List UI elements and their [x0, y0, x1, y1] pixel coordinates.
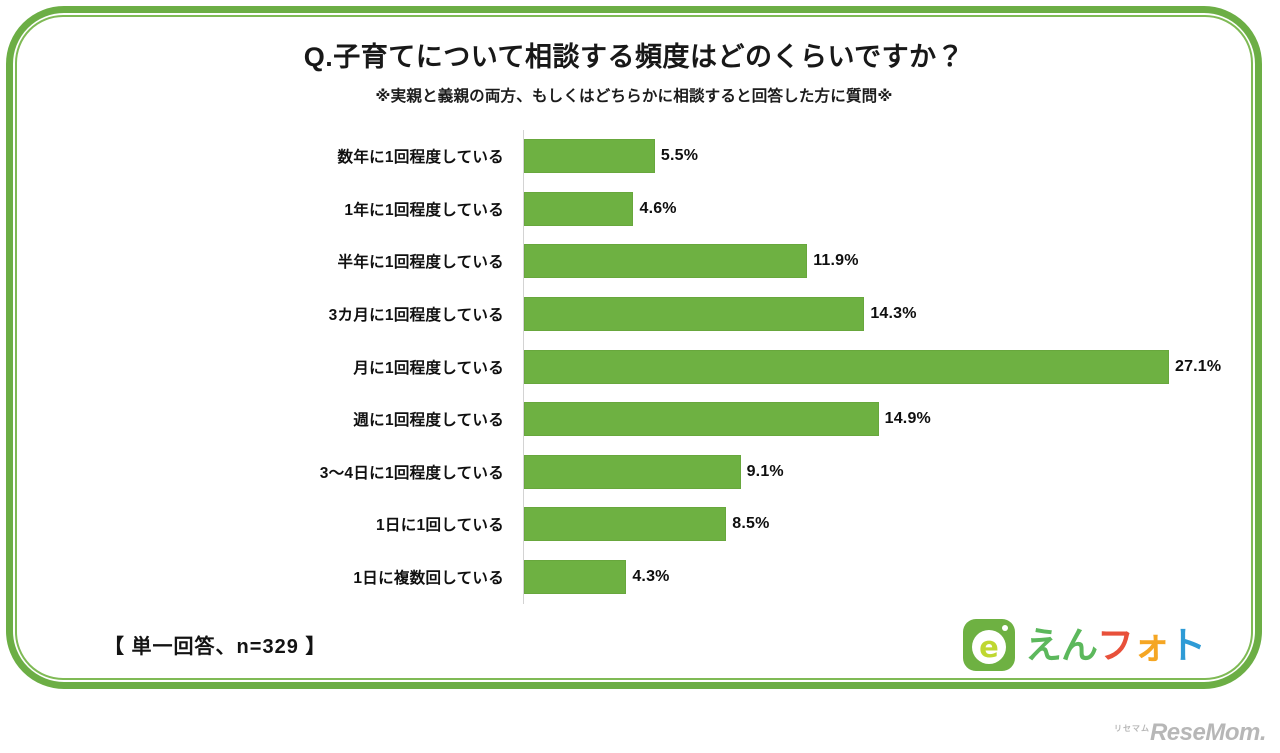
bar-category-label: 1日に1回している: [376, 513, 504, 535]
watermark-ruby: リセマム: [1114, 724, 1150, 733]
bar: [524, 192, 633, 226]
brand-wordmark-part-3: ォ: [1133, 625, 1169, 666]
bar-category-label: 半年に1回程度している: [338, 250, 504, 272]
bar: [524, 297, 864, 331]
bar-category-label: 3～4日に1回程度している: [320, 461, 504, 483]
page-subtitle: ※実親と義親の両方、もしくはどちらかに相談すると回答した方に質問※: [18, 84, 1250, 106]
bar-value-label: 8.5%: [732, 515, 769, 533]
camera-icon: e: [963, 619, 1015, 671]
bar-value-label: 4.3%: [632, 568, 669, 586]
bar-row: 月に1回程度している27.1%: [18, 340, 1250, 393]
bar: [524, 139, 655, 173]
bar: [524, 402, 879, 436]
bar-category-label: 1日に複数回している: [353, 566, 504, 588]
bar-chart: 数年に1回程度している5.5%1年に1回程度している4.6%半年に1回程度してい…: [18, 115, 1250, 605]
bar: [524, 350, 1169, 384]
bar-row: 1日に1回している8.5%: [18, 498, 1250, 551]
bar-category-label: 月に1回程度している: [353, 356, 504, 378]
bar-category-label: 3カ月に1回程度している: [329, 303, 504, 325]
bar-row: 3カ月に1回程度している14.3%: [18, 288, 1250, 341]
bar-value-label: 9.1%: [747, 463, 784, 481]
brand-wordmark: えんフォト: [1025, 627, 1205, 664]
infographic-card: Q.子育てについて相談する頻度はどのくらいですか？ ※実親と義親の両方、もしくは…: [18, 18, 1250, 677]
bar-row: 1年に1回程度している4.6%: [18, 183, 1250, 236]
brand-wordmark-part-4: ト: [1169, 625, 1205, 666]
bar-value-label: 5.5%: [661, 147, 698, 165]
brand-wordmark-part-1: えん: [1025, 625, 1097, 666]
bar-value-label: 11.9%: [813, 252, 858, 270]
watermark-text: ReseMom.: [1150, 719, 1266, 746]
bar-row: 3～4日に1回程度している9.1%: [18, 446, 1250, 499]
bar-category-label: 1年に1回程度している: [344, 198, 504, 220]
resemom-watermark: リセマムReseMom.: [1114, 719, 1266, 747]
bar-value-label: 4.6%: [639, 200, 676, 218]
bar: [524, 455, 741, 489]
bar: [524, 244, 807, 278]
bar-category-label: 週に1回程度している: [353, 408, 504, 430]
bar-row: 数年に1回程度している5.5%: [18, 130, 1250, 183]
bar-row: 半年に1回程度している11.9%: [18, 235, 1250, 288]
bar: [524, 507, 726, 541]
brand-wordmark-part-2: フ: [1097, 625, 1133, 666]
bar-value-label: 27.1%: [1175, 358, 1221, 376]
bar: [524, 560, 626, 594]
bar-category-label: 数年に1回程度している: [338, 145, 504, 167]
sample-size-note: 【 単一回答、n=329 】: [104, 630, 326, 659]
bar-value-label: 14.9%: [885, 410, 931, 428]
bar-row: 週に1回程度している14.9%: [18, 393, 1250, 446]
bar-row: 1日に複数回している4.3%: [18, 551, 1250, 604]
enfoto-logo: e えんフォト: [963, 614, 1193, 676]
bar-value-label: 14.3%: [870, 305, 916, 323]
page-title: Q.子育てについて相談する頻度はどのくらいですか？: [18, 35, 1250, 74]
logo-mark-letter: e: [972, 630, 1006, 664]
